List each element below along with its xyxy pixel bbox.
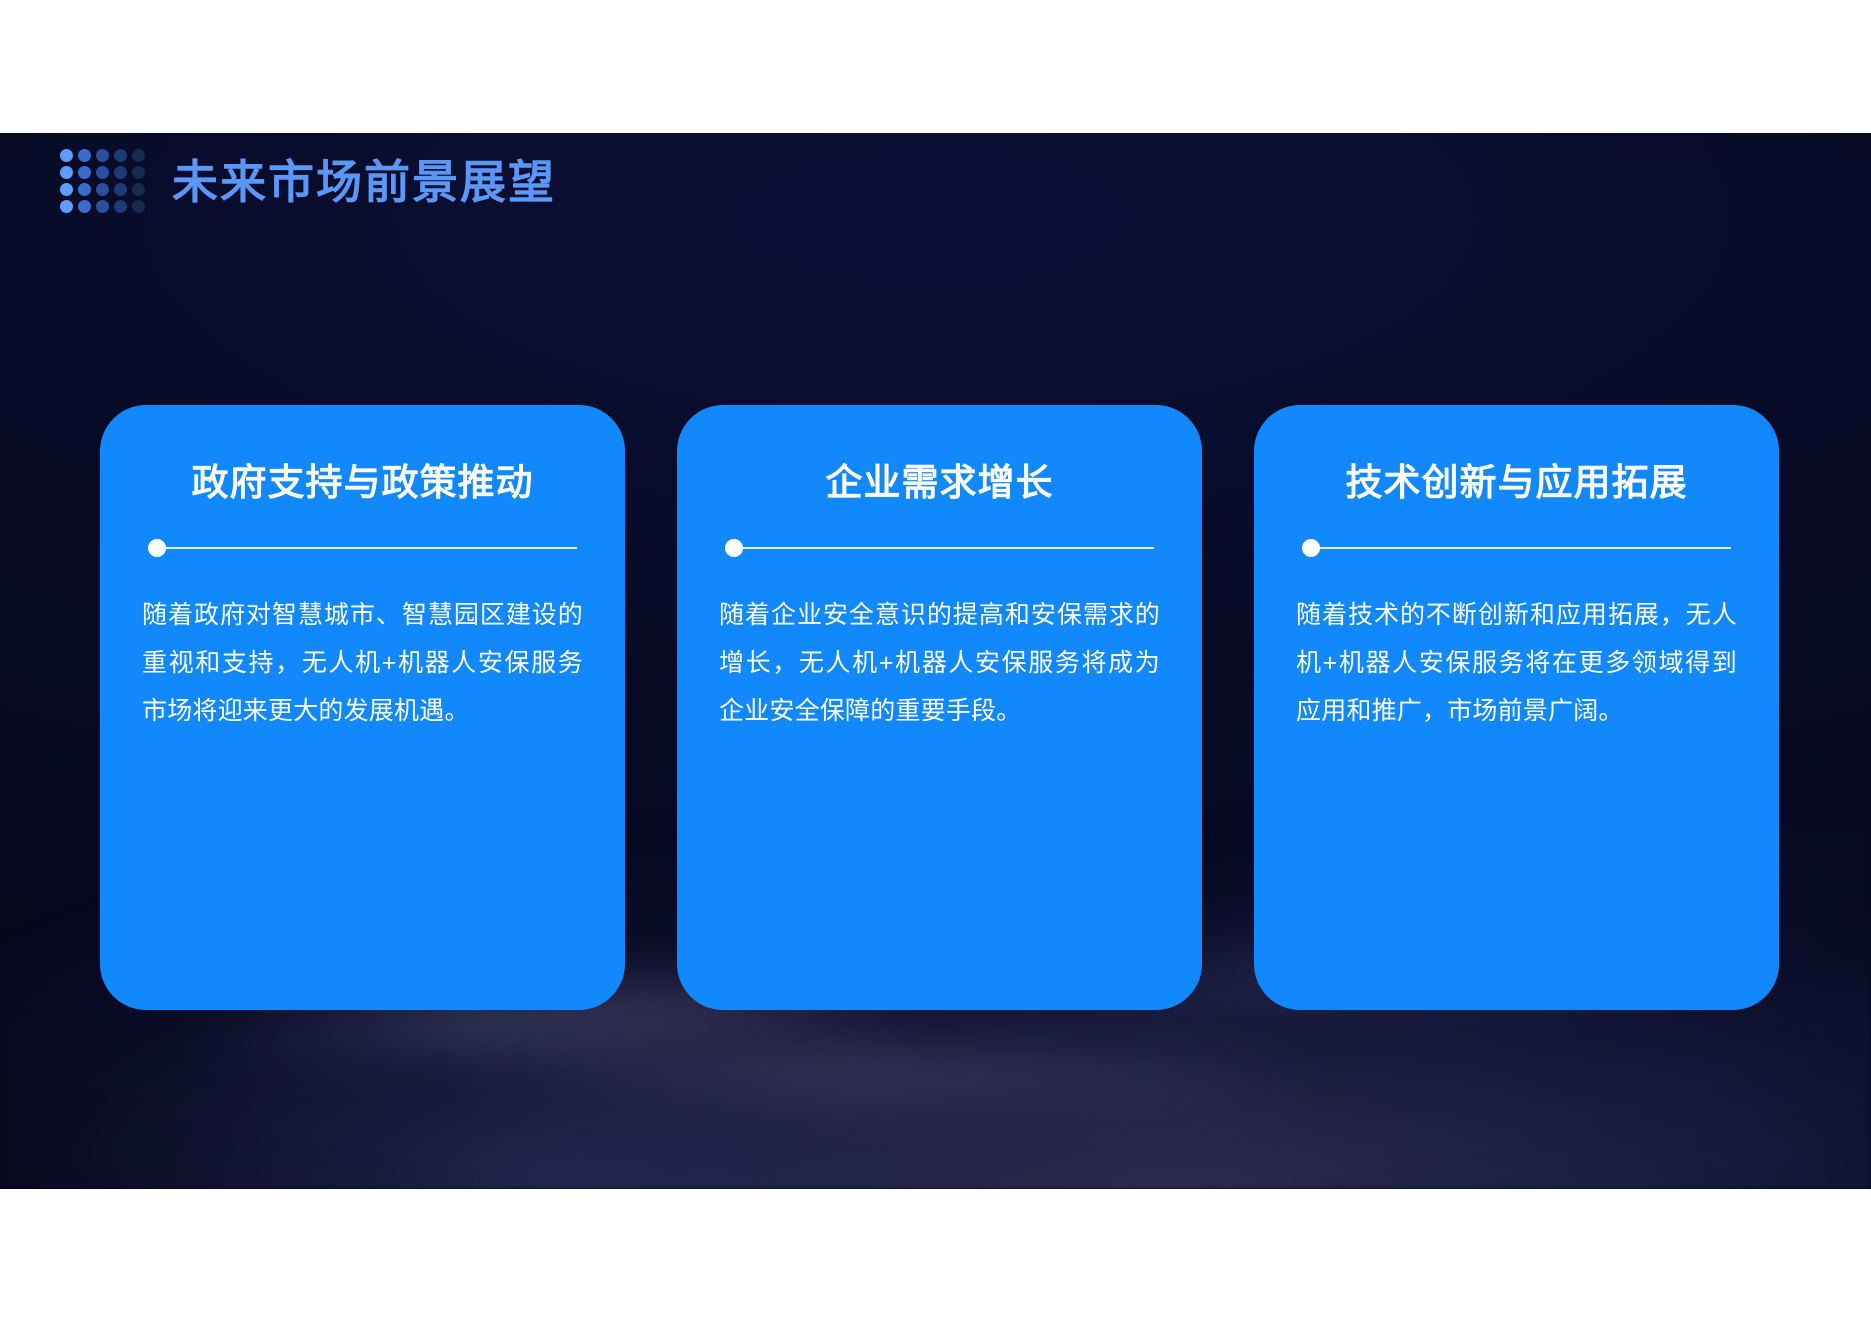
slide-header: 未来市场前景展望 — [60, 147, 556, 217]
divider-rule — [1312, 547, 1731, 549]
card-government-support[interactable]: 政府支持与政策推动 随着政府对智慧城市、智慧园区建设的重视和支持，无人机+机器人… — [100, 405, 625, 1010]
card-divider — [148, 539, 577, 557]
slide-canvas: 未来市场前景展望 政府支持与政策推动 随着政府对智慧城市、智慧园区建设的重视和支… — [0, 133, 1871, 1189]
card-body: 随着企业安全意识的提高和安保需求的增长，无人机+机器人安保服务将成为企业安全保障… — [719, 591, 1160, 735]
card-title: 政府支持与政策推动 — [142, 461, 583, 505]
divider-rule — [158, 547, 577, 549]
card-title: 技术创新与应用拓展 — [1296, 461, 1737, 505]
card-technology-innovation[interactable]: 技术创新与应用拓展 随着技术的不断创新和应用拓展，无人机+机器人安保服务将在更多… — [1254, 405, 1779, 1010]
card-divider — [725, 539, 1154, 557]
divider-dot-icon — [725, 539, 743, 557]
card-title: 企业需求增长 — [719, 461, 1160, 505]
dot-grid-icon — [60, 149, 146, 217]
card-body: 随着政府对智慧城市、智慧园区建设的重视和支持，无人机+机器人安保服务市场将迎来更… — [142, 591, 583, 735]
divider-dot-icon — [1302, 539, 1320, 557]
divider-dot-icon — [148, 539, 166, 557]
divider-rule — [735, 547, 1154, 549]
card-body: 随着技术的不断创新和应用拓展，无人机+机器人安保服务将在更多领域得到应用和推广，… — [1296, 591, 1737, 735]
page-title: 未来市场前景展望 — [172, 159, 556, 205]
cards-row: 政府支持与政策推动 随着政府对智慧城市、智慧园区建设的重视和支持，无人机+机器人… — [100, 405, 1780, 1010]
card-divider — [1302, 539, 1731, 557]
card-enterprise-demand[interactable]: 企业需求增长 随着企业安全意识的提高和安保需求的增长，无人机+机器人安保服务将成… — [677, 405, 1202, 1010]
